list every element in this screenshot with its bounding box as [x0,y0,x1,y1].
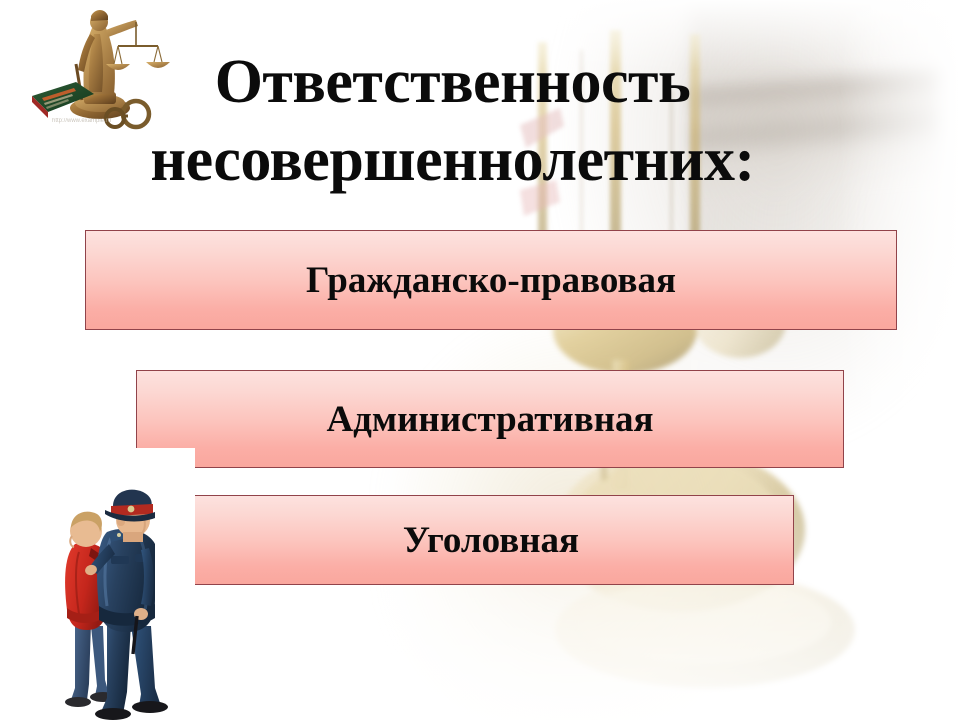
category-label: Гражданско-правовая [306,262,676,299]
presentation-slide: http://www.example.ru [0,0,960,720]
category-box-civil[interactable]: Гражданско-правовая [85,230,897,330]
category-label: Уголовная [403,522,579,559]
category-box-criminal[interactable]: Уголовная [188,495,794,585]
category-box-administrative[interactable]: Административная [136,370,844,468]
category-label: Административная [326,401,653,438]
police-officer-and-boy-image [45,448,195,720]
slide-title-line-2: несовершеннолетних: [0,122,905,198]
slide-title: Ответственность несовершеннолетних: [0,44,905,198]
slide-title-line-1: Ответственность [0,44,905,120]
